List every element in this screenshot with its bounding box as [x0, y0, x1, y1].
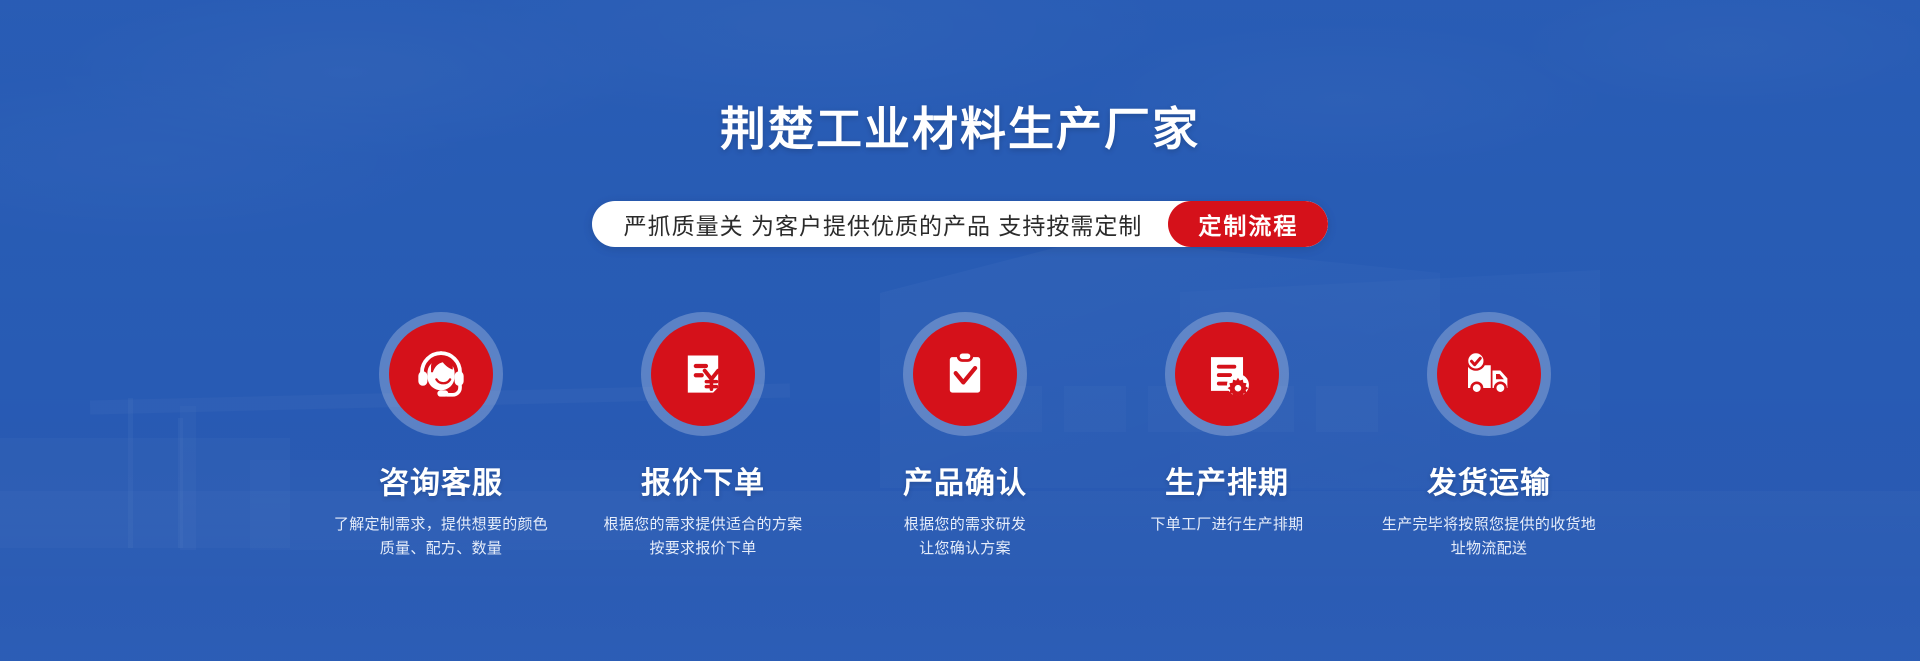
step-icon-circle — [1437, 322, 1541, 426]
custom-process-button[interactable]: 定制流程 — [1168, 201, 1328, 247]
step-description: 根据您的需求研发 让您确认方案 — [904, 513, 1026, 561]
step-icon-ring[interactable] — [641, 312, 765, 436]
step-icon-ring[interactable] — [903, 312, 1027, 436]
step-item[interactable]: 发货运输 生产完毕将按照您提供的收货地 址物流配送 — [1358, 312, 1620, 561]
step-icon-ring[interactable] — [1427, 312, 1551, 436]
tagline-text: 严抓质量关 为客户提供优质的产品 支持按需定制 — [592, 201, 1169, 247]
step-item[interactable]: 产品确认 根据您的需求研发 让您确认方案 — [834, 312, 1096, 561]
step-description-line: 质量、配方、数量 — [334, 537, 548, 561]
step-description-line: 让您确认方案 — [904, 537, 1026, 561]
step-description-line: 按要求报价下单 — [604, 537, 803, 561]
step-item[interactable]: 咨询客服 了解定制需求，提供想要的颜色 质量、配方、数量 — [310, 312, 572, 561]
step-icon-circle — [913, 322, 1017, 426]
step-description: 根据您的需求提供适合的方案 按要求报价下单 — [604, 513, 803, 561]
clipboard-check-icon — [938, 347, 992, 401]
delivery-truck-check-icon — [1461, 346, 1517, 402]
headset-customer-service-icon — [412, 345, 470, 403]
step-item[interactable]: 生产排期 下单工厂进行生产排期 — [1096, 312, 1358, 561]
step-description-line: 根据您的需求研发 — [904, 513, 1026, 537]
step-icon-circle — [1175, 322, 1279, 426]
step-description: 生产完毕将按照您提供的收货地 址物流配送 — [1382, 513, 1596, 561]
step-description-line: 下单工厂进行生产排期 — [1150, 513, 1303, 537]
step-icon-circle — [389, 322, 493, 426]
step-description-line: 生产完毕将按照您提供的收货地 — [1382, 513, 1596, 537]
tagline-bar: 严抓质量关 为客户提供优质的产品 支持按需定制 定制流程 — [0, 201, 1920, 247]
step-title: 发货运输 — [1427, 458, 1551, 502]
banner-content: 荆楚工业材料生产厂家 严抓质量关 为客户提供优质的产品 支持按需定制 定制流程 — [0, 0, 1920, 661]
step-description-line: 根据您的需求提供适合的方案 — [604, 513, 803, 537]
banner-headline: 荆楚工业材料生产厂家 — [0, 93, 1920, 159]
process-banner: 荆楚工业材料生产厂家 严抓质量关 为客户提供优质的产品 支持按需定制 定制流程 — [0, 0, 1920, 661]
invoice-yuan-icon — [676, 347, 730, 401]
step-icon-ring[interactable] — [379, 312, 503, 436]
step-icon-ring[interactable] — [1165, 312, 1289, 436]
document-gear-icon — [1200, 347, 1254, 401]
step-description: 下单工厂进行生产排期 — [1150, 513, 1303, 537]
step-title: 报价下单 — [641, 458, 765, 502]
step-title: 产品确认 — [903, 458, 1027, 502]
step-icon-circle — [651, 322, 755, 426]
step-description-line: 址物流配送 — [1382, 537, 1596, 561]
tagline-pill: 严抓质量关 为客户提供优质的产品 支持按需定制 定制流程 — [592, 201, 1329, 247]
step-description: 了解定制需求，提供想要的颜色 质量、配方、数量 — [334, 513, 548, 561]
step-title: 生产排期 — [1165, 458, 1289, 502]
step-title: 咨询客服 — [379, 458, 503, 502]
step-description-line: 了解定制需求，提供想要的颜色 — [334, 513, 548, 537]
step-item[interactable]: 报价下单 根据您的需求提供适合的方案 按要求报价下单 — [572, 312, 834, 561]
process-steps: 咨询客服 了解定制需求，提供想要的颜色 质量、配方、数量 — [310, 312, 1620, 561]
